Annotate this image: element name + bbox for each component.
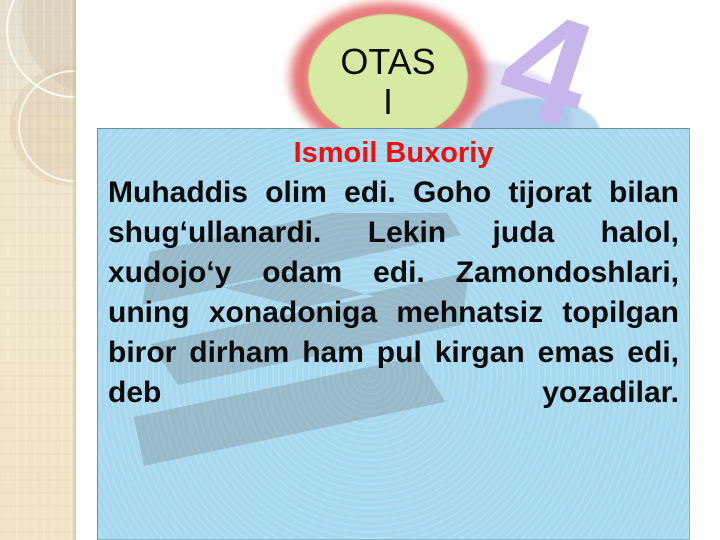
decorative-sidebar [0,0,76,540]
text-box-body: Muhaddis olim edi. Goho tijorat bilan sh… [108,173,679,412]
circle-callout-body: OTASI [308,14,468,140]
text-box-title: Ismoil Buxoriy [108,135,679,172]
circle-callout-label: OTASI [336,42,440,121]
sidebar-edge-shadow [72,0,76,540]
textbox-content: Ismoil Buxoriy Muhaddis olim edi. Goho t… [108,135,679,412]
main-text-box: Ismoil Buxoriy Muhaddis olim edi. Goho t… [97,128,690,540]
slide-canvas: 4 OTASI Ismoil Buxoriy Muhaddis olim edi… [0,0,720,540]
